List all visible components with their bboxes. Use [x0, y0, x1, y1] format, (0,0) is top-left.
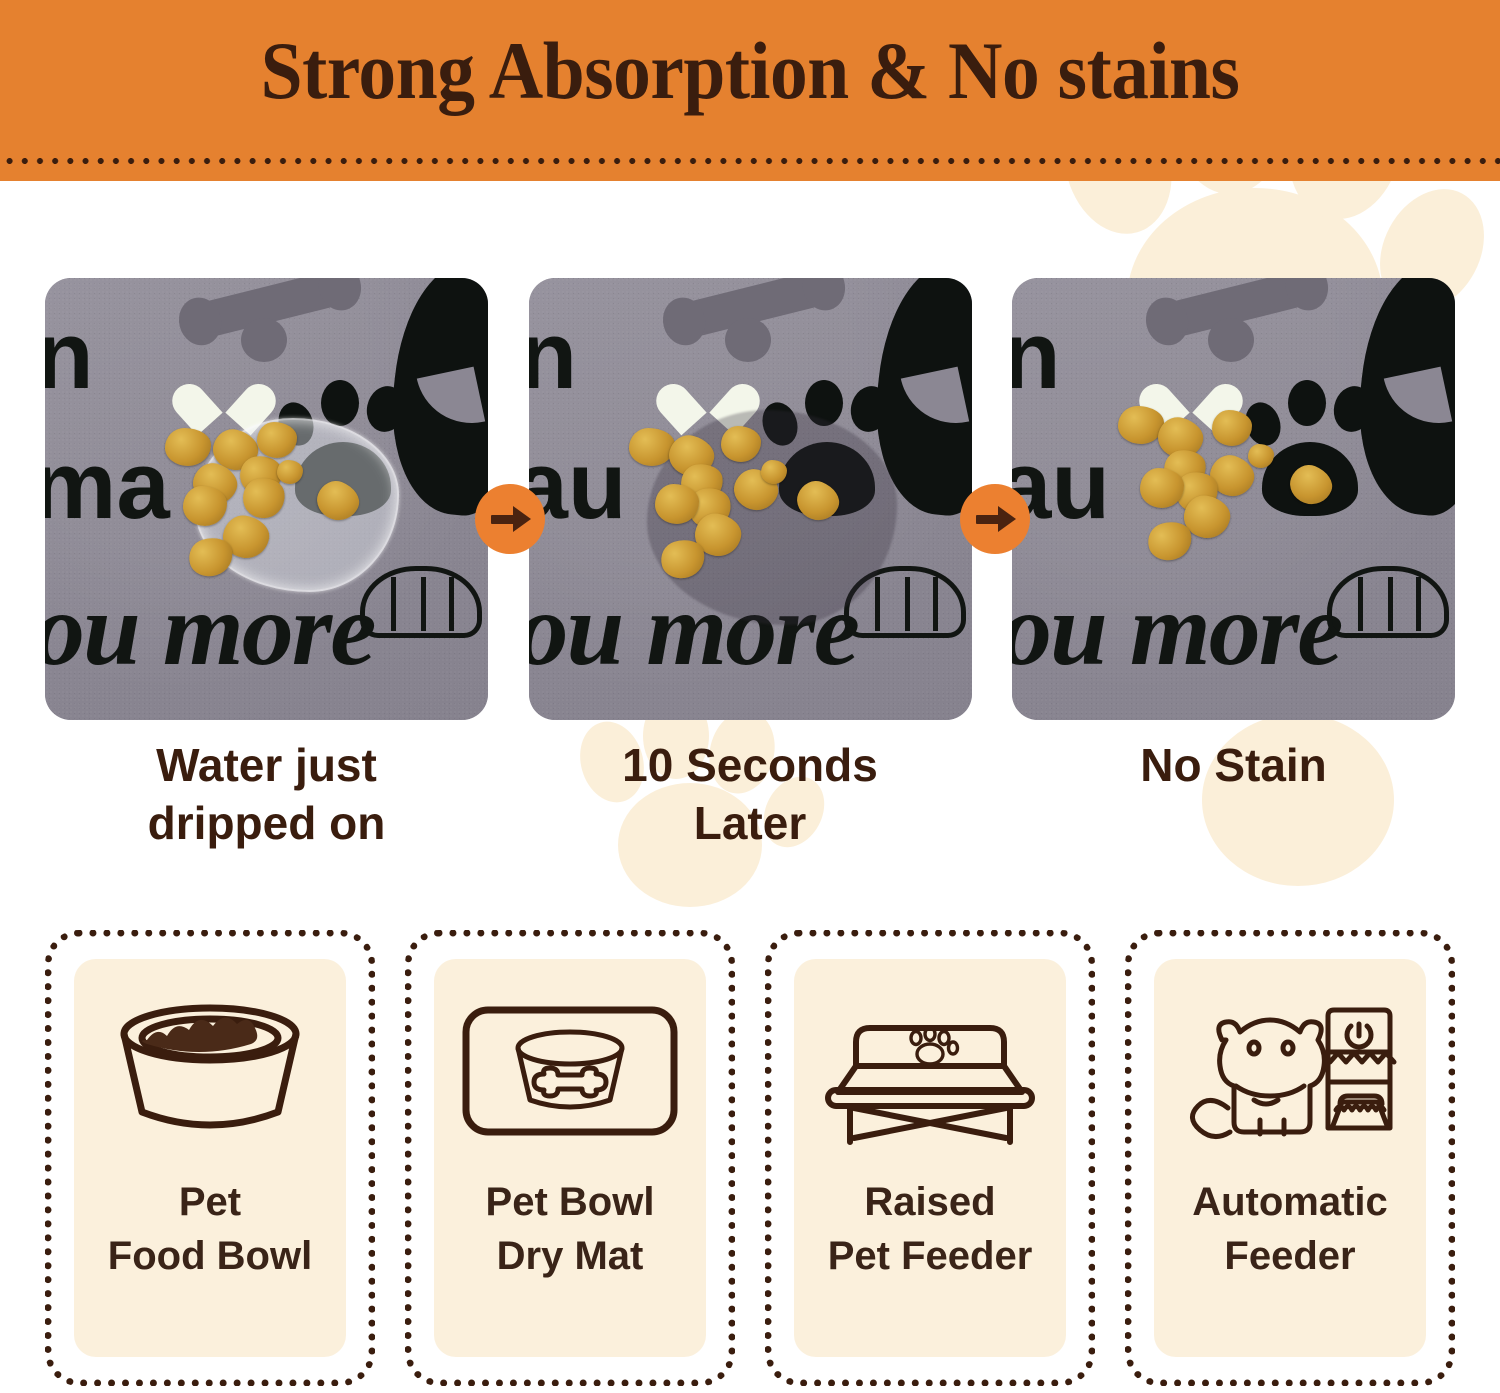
kibble-piece [721, 426, 761, 462]
kibble-piece [655, 484, 699, 524]
mat-text-top: n [1012, 308, 1061, 404]
pet-bowl-dry-mat-icon [455, 981, 685, 1161]
mat-text-middle: ma [45, 438, 170, 534]
mat-text-bottom: ou more [45, 578, 374, 682]
use-case-card-row: Pet Food Bowl Pet Bowl Dry Mat [45, 930, 1455, 1386]
kibble-piece [629, 428, 675, 466]
use-case-card-pet-bowl-dry-mat[interactable]: Pet Bowl Dry Mat [405, 930, 735, 1386]
mat-text-top: n [45, 308, 94, 404]
bone-graphic-end [725, 318, 771, 362]
mat-text-bottom: ou more [1012, 578, 1341, 682]
arrow-right-icon [960, 484, 1030, 554]
bone-graphic-end [1208, 318, 1254, 362]
header-banner: Strong Absorption & No stains [0, 0, 1500, 181]
arrow-right-icon [475, 484, 545, 554]
demo-caption-row: Water just dripped on 10 Seconds Later N… [45, 736, 1455, 856]
demo-photo-10-seconds-later: n au ou more [529, 278, 972, 720]
raised-pet-feeder-icon [815, 981, 1045, 1161]
mat-text-top: n [529, 308, 578, 404]
use-case-card-automatic-feeder[interactable]: Automatic Feeder [1125, 930, 1455, 1386]
demo-caption: No Stain [1012, 736, 1455, 856]
use-case-label: Pet Food Bowl [108, 1175, 312, 1283]
demo-photo-no-stain: n au ou more [1012, 278, 1455, 720]
use-case-label: Automatic Feeder [1192, 1175, 1388, 1283]
absorption-demo-photo-strip: n ma ou more n au ou more [45, 278, 1455, 720]
pet-food-bowl-icon [95, 981, 325, 1161]
header-dotted-divider [0, 157, 1500, 165]
use-case-label: Raised Pet Feeder [828, 1175, 1033, 1283]
demo-caption: 10 Seconds Later [529, 736, 972, 856]
bone-graphic-end [241, 318, 287, 362]
demo-photo-water-just-dripped-on: n ma ou more [45, 278, 488, 720]
use-case-card-raised-pet-feeder[interactable]: Raised Pet Feeder [765, 930, 1095, 1386]
page-title: Strong Absorption & No stains [60, 26, 1440, 116]
demo-caption: Water just dripped on [45, 736, 488, 856]
heart-graphic [193, 374, 255, 430]
use-case-label: Pet Bowl Dry Mat [486, 1175, 655, 1283]
automatic-feeder-icon [1175, 981, 1405, 1161]
kibble-piece [761, 460, 787, 484]
use-case-card-pet-food-bowl[interactable]: Pet Food Bowl [45, 930, 375, 1386]
